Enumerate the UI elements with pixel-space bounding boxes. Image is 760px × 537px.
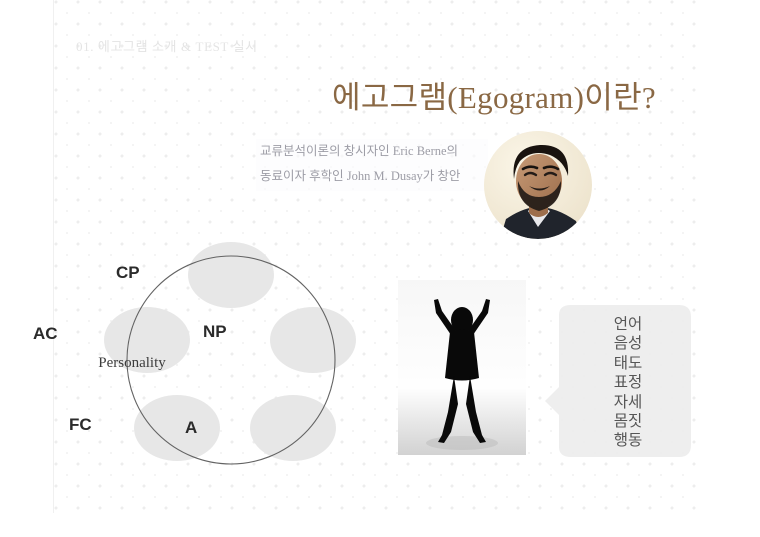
behaviour-item: 자세 — [573, 393, 683, 412]
node-ellipse-a — [250, 395, 336, 461]
portrait-image — [484, 131, 592, 239]
behaviour-item: 표정 — [573, 373, 683, 392]
node-ellipse-cp — [188, 242, 274, 308]
behaviour-item: 태도 — [573, 354, 683, 373]
diagram-label-fc: FC — [69, 415, 92, 435]
intro-line-1: 교류분석이론의 창시자인 Eric Berne의 — [256, 139, 488, 164]
diagram-center-label: Personality — [62, 355, 202, 372]
portrait-photo — [484, 131, 592, 239]
behaviour-callout-bubble: 언어 음성 태도 표정 자세 몸짓 행동 — [545, 303, 695, 462]
diagram-label-ac: AC — [33, 324, 58, 344]
behaviour-item: 행동 — [573, 431, 683, 450]
silhouette-photo — [398, 280, 526, 455]
behaviour-item: 몸짓 — [573, 412, 683, 431]
behaviour-list: 언어 음성 태도 표정 자세 몸짓 행동 — [573, 315, 683, 451]
node-ellipse-np — [270, 307, 356, 373]
behaviour-item: 언어 — [573, 315, 683, 334]
left-vertical-rule — [53, 0, 54, 513]
diagram-label-np: NP — [203, 322, 227, 342]
section-header: 01. 에고그램 소개 & TEST 실시 — [76, 36, 258, 55]
diagram-label-a: A — [185, 418, 197, 438]
intro-line-2: 동료이자 후학인 John M. Dusay가 창안 — [256, 164, 488, 189]
silhouette-image — [398, 280, 526, 455]
slide-canvas: 01. 에고그램 소개 & TEST 실시 에고그램(Egogram)이란? 교… — [0, 0, 760, 537]
page-title: 에고그램(Egogram)이란? — [332, 72, 656, 117]
node-ellipse-fc — [134, 395, 220, 461]
behaviour-item: 음성 — [573, 334, 683, 353]
diagram-label-cp: CP — [116, 263, 140, 283]
intro-caption-box: 교류분석이론의 창시자인 Eric Berne의 동료이자 후학인 John M… — [256, 139, 488, 191]
